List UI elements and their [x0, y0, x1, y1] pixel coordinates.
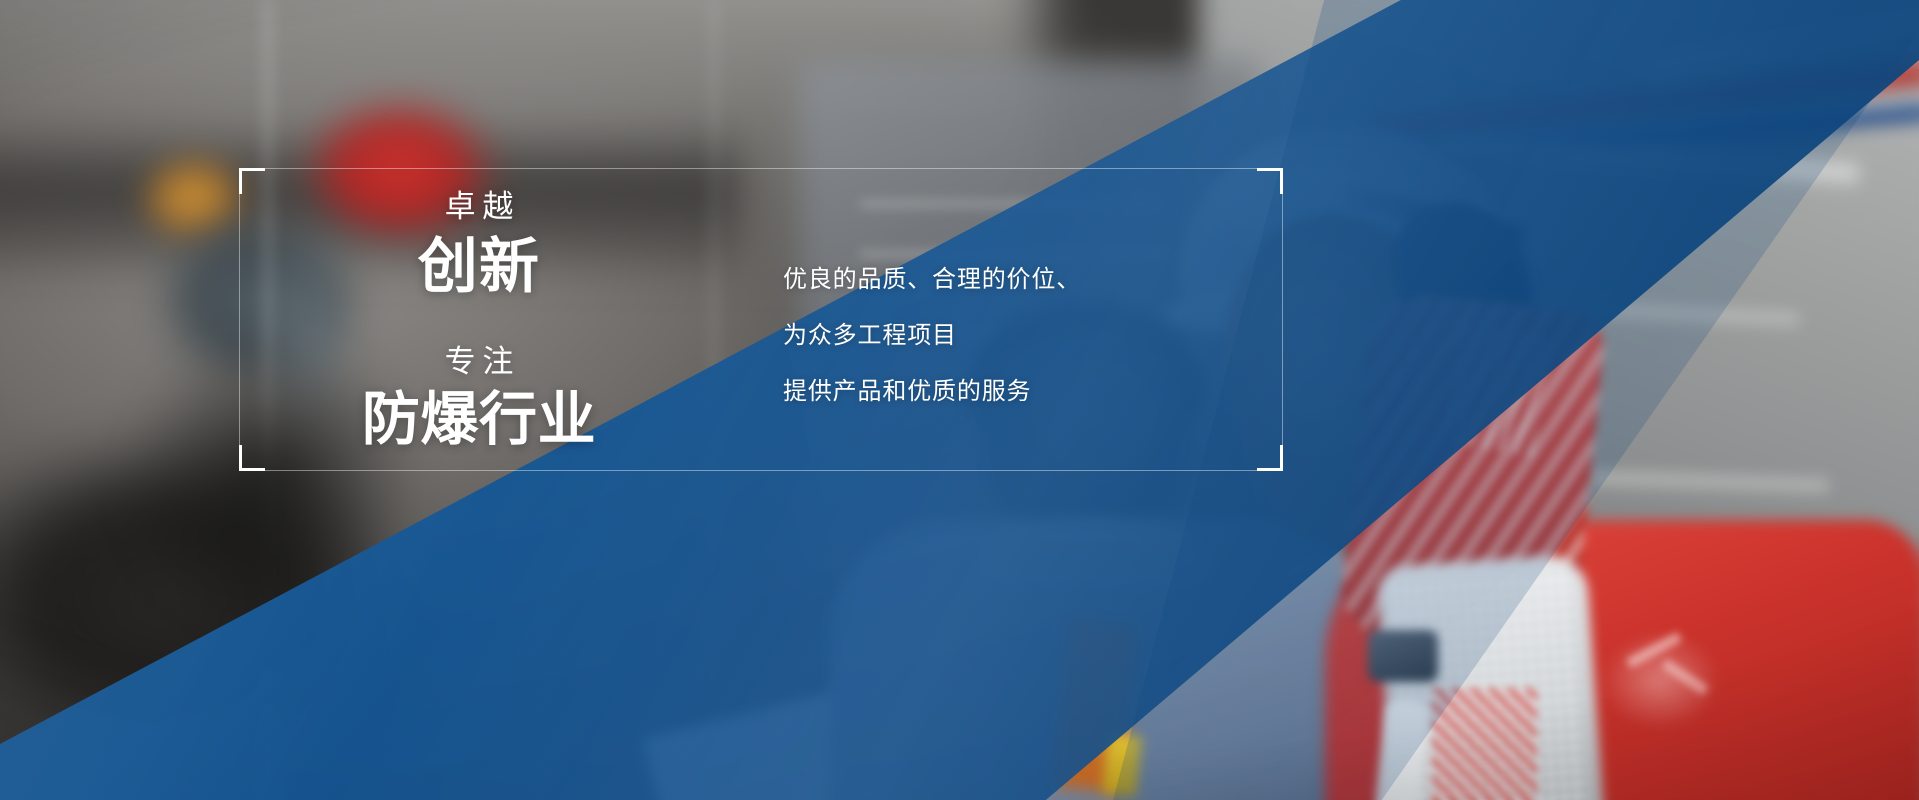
headline-main-innovation: 创新 — [239, 230, 719, 303]
headline-group-innovation: 卓越 创新 — [239, 186, 719, 303]
banner-content: 卓越 创新 专注 防爆行业 优良的品质、合理的价位、 为众多工程项目 提供产品和… — [0, 0, 1919, 800]
headline-group-industry: 专注 防爆行业 — [239, 341, 719, 456]
tagline-paragraph: 优良的品质、合理的价位、 为众多工程项目 提供产品和优质的服务 — [783, 252, 1081, 420]
tagline-line-1: 优良的品质、合理的价位、 — [783, 252, 1081, 308]
tagline-line-3: 提供产品和优质的服务 — [783, 364, 1081, 420]
hero-banner: 卓越 创新 专注 防爆行业 优良的品质、合理的价位、 为众多工程项目 提供产品和… — [0, 0, 1919, 800]
tagline-line-2: 为众多工程项目 — [783, 308, 1081, 364]
headline-block: 卓越 创新 专注 防爆行业 — [239, 186, 719, 494]
headline-main-industry: 防爆行业 — [239, 385, 719, 456]
headline-eyebrow-excellence: 卓越 — [239, 186, 719, 228]
headline-eyebrow-focus: 专注 — [239, 341, 719, 383]
